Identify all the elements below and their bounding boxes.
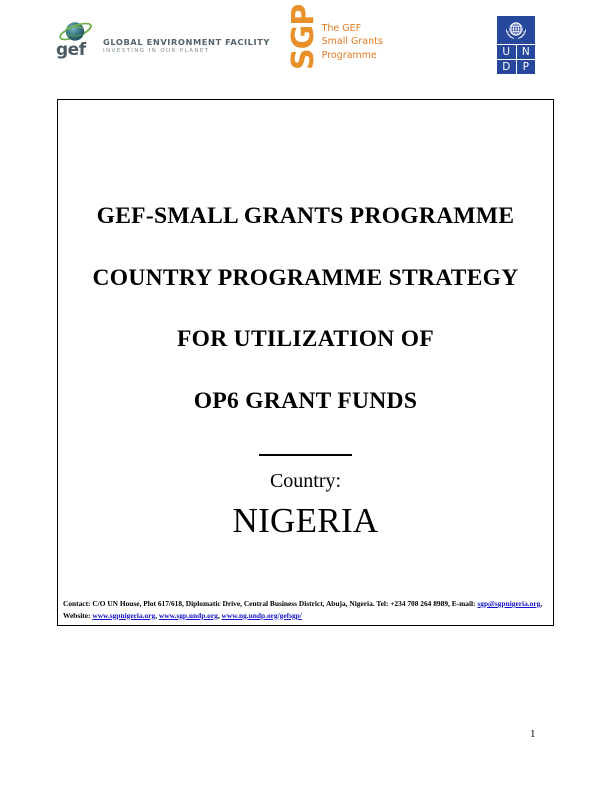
undp-logo: U N D P bbox=[497, 16, 535, 74]
gef-text-block: GLOBAL ENVIRONMENT FACILITY INVESTING IN… bbox=[103, 38, 270, 58]
cover-frame: GEF-SMALL GRANTS PROGRAMME COUNTRY PROGR… bbox=[57, 99, 554, 626]
logo-band: gef GLOBAL ENVIRONMENT FACILITY INVESTIN… bbox=[0, 0, 612, 92]
website-link-3[interactable]: www.ng.undp.org/gefsgp/ bbox=[222, 611, 302, 620]
gef-logo: gef GLOBAL ENVIRONMENT FACILITY INVESTIN… bbox=[55, 18, 270, 58]
un-emblem-icon bbox=[497, 16, 535, 44]
sgp-acronym: SGP bbox=[290, 14, 318, 70]
horizontal-divider bbox=[259, 454, 352, 456]
cover-title-line-1: GEF-SMALL GRANTS PROGRAMME bbox=[58, 205, 553, 229]
divider-wrap bbox=[58, 443, 553, 461]
country-block: Country: NIGERIA bbox=[58, 470, 553, 541]
globe-planet-icon: gef bbox=[55, 18, 97, 58]
sgp-text-block: The GEF Small Grants Programme bbox=[322, 14, 383, 70]
gef-tagline: INVESTING IN OUR PLANET bbox=[103, 48, 270, 55]
undp-letter-grid: U N D P bbox=[497, 45, 535, 74]
cover-title-line-4: OP6 GRANT FUNDS bbox=[58, 390, 553, 414]
country-label: Country: bbox=[58, 470, 553, 492]
sgp-logo: SGP The GEF Small Grants Programme bbox=[290, 14, 383, 70]
sgp-line-3: Programme bbox=[322, 49, 383, 62]
page-number: 1 bbox=[530, 728, 536, 740]
contact-email-link[interactable]: sgp@sgpnigeria.org bbox=[477, 599, 540, 608]
undp-letter-u: U bbox=[497, 45, 516, 59]
country-name: NIGERIA bbox=[58, 501, 553, 541]
gef-wordmark: gef bbox=[56, 42, 86, 59]
cover-title-block: GEF-SMALL GRANTS PROGRAMME COUNTRY PROGR… bbox=[58, 205, 553, 413]
sgp-line-1: The GEF bbox=[322, 22, 383, 35]
cover-title-line-2: COUNTRY PROGRAMME STRATEGY bbox=[58, 267, 553, 291]
cover-title-line-3: FOR UTILIZATION OF bbox=[58, 328, 553, 352]
undp-letter-p: P bbox=[517, 60, 536, 74]
website-link-2[interactable]: www.sgp.undp.org bbox=[159, 611, 218, 620]
undp-letter-d: D bbox=[497, 60, 516, 74]
undp-letter-n: N bbox=[517, 45, 536, 59]
contact-footer: Contact: C/O UN House, Plot 617/618, Dip… bbox=[63, 598, 548, 621]
gef-title: GLOBAL ENVIRONMENT FACILITY bbox=[103, 38, 270, 47]
sgp-line-2: Small Grants bbox=[322, 35, 383, 48]
website-link-1[interactable]: www.sgpnigeria.org bbox=[92, 611, 155, 620]
contact-prefix: Contact: C/O UN House, Plot 617/618, Dip… bbox=[63, 599, 477, 608]
